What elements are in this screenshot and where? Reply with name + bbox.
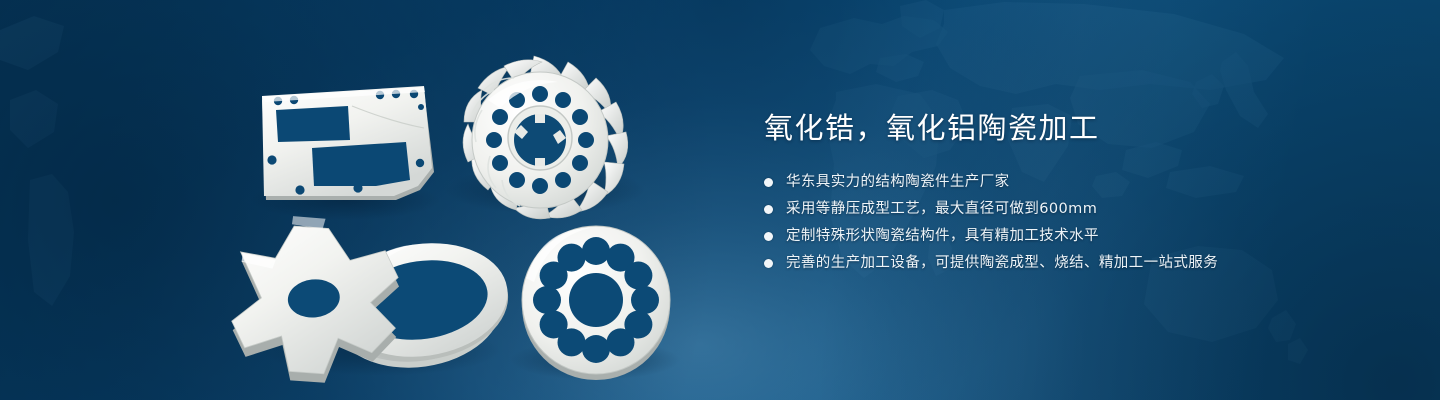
list-item: 完善的生产加工设备，可提供陶瓷成型、烧结、精加工一站式服务 xyxy=(764,253,1364,273)
feature-text: 采用等静压成型工艺，最大直径可做到600mm xyxy=(786,199,1097,219)
bullet-dot-icon xyxy=(764,178,773,187)
bullet-dot-icon xyxy=(764,205,773,214)
feature-text: 定制特殊形状陶瓷结构件，具有精加工技术水平 xyxy=(786,226,1099,246)
feature-text: 完善的生产加工设备，可提供陶瓷成型、烧结、精加工一站式服务 xyxy=(786,253,1218,273)
part-ceramic-plate xyxy=(262,86,434,200)
feature-list: 华东具实力的结构陶瓷件生产厂家 采用等静压成型工艺，最大直径可做到600mm 定… xyxy=(764,172,1364,273)
ceramic-products-photo xyxy=(0,0,740,400)
hero-banner: 氧化锆，氧化铝陶瓷加工 华东具实力的结构陶瓷件生产厂家 采用等静压成型工艺，最大… xyxy=(0,0,1440,400)
bullet-dot-icon xyxy=(764,232,773,241)
page-title: 氧化锆，氧化铝陶瓷加工 xyxy=(764,108,1364,148)
part-ceramic-ring-12-holes xyxy=(522,226,670,380)
list-item: 采用等静压成型工艺，最大直径可做到600mm xyxy=(764,199,1364,219)
list-item: 华东具实力的结构陶瓷件生产厂家 xyxy=(764,172,1364,192)
feature-text: 华东具实力的结构陶瓷件生产厂家 xyxy=(786,172,1010,192)
banner-copy: 氧化锆，氧化铝陶瓷加工 华东具实力的结构陶瓷件生产厂家 采用等静压成型工艺，最大… xyxy=(764,108,1364,280)
bullet-dot-icon xyxy=(764,259,773,268)
list-item: 定制特殊形状陶瓷结构件，具有精加工技术水平 xyxy=(764,226,1364,246)
